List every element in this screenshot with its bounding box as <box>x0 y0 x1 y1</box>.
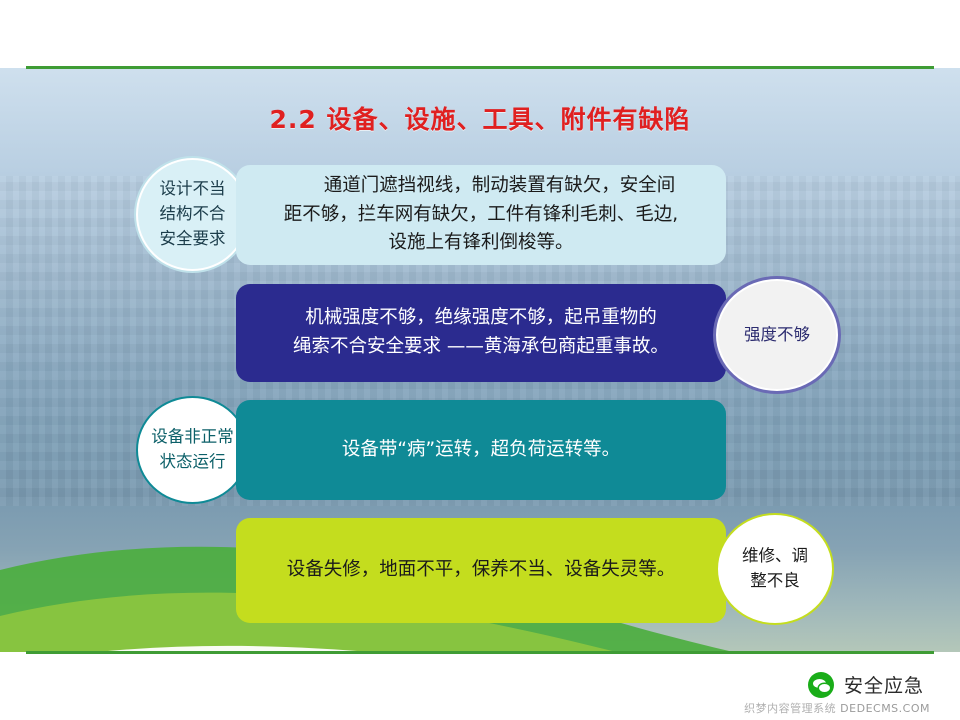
category-tag-insufficient-strength: 强度不够 <box>716 279 838 391</box>
content-text: 设备失修，地面不平，保养不当、设备失灵等。 <box>262 556 700 585</box>
top-green-rule <box>26 66 934 69</box>
content-text: 设备带“病”运转，超负荷运转等。 <box>262 436 700 465</box>
tag-text: 设备非正常 状态运行 <box>151 425 234 475</box>
content-box-abnormal-operation: 设备带“病”运转，超负荷运转等。 <box>236 400 726 500</box>
watermark: 织梦内容管理系统 DEDECMS.COM <box>744 700 930 716</box>
tag-text: 维修、调 整不良 <box>742 544 808 594</box>
watermark-en: DEDECMS.COM <box>840 702 930 715</box>
category-tag-poor-maintenance: 维修、调 整不良 <box>716 513 834 625</box>
tag-text: 设计不当 结构不合 安全要求 <box>160 177 226 251</box>
footer-brand: 安全应急 <box>808 671 924 698</box>
page-title: 2.2 设备、设施、工具、附件有缺陷 <box>0 100 960 136</box>
tag-text: 强度不够 <box>744 323 810 348</box>
content-box-design-defect: 通道门遮挡视线，制动装置有缺欠，安全间 距不够，拦车网有缺欠，工件有锋利毛刺、毛… <box>236 165 726 265</box>
content-text: 通道门遮挡视线，制动装置有缺欠，安全间 距不够，拦车网有缺欠，工件有锋利毛刺、毛… <box>262 172 700 258</box>
watermark-cn: 织梦内容管理系统 <box>744 702 836 715</box>
content-box-poor-maintenance: 设备失修，地面不平，保养不当、设备失灵等。 <box>236 518 726 623</box>
slide-canvas: 2.2 设备、设施、工具、附件有缺陷 设计不当 结构不合 安全要求 通道门遮挡视… <box>0 0 960 720</box>
category-tag-abnormal-operation: 设备非正常 状态运行 <box>136 396 249 504</box>
wechat-icon <box>808 672 834 698</box>
bottom-green-rule <box>26 651 934 654</box>
top-white-band <box>0 0 960 68</box>
category-tag-design-defect: 设计不当 结构不合 安全要求 <box>136 158 249 271</box>
brand-name: 安全应急 <box>844 671 924 698</box>
content-box-insufficient-strength: 机械强度不够，绝缘强度不够，起吊重物的 绳索不合安全要求 ——黄海承包商起重事故… <box>236 284 726 382</box>
content-text: 机械强度不够，绝缘强度不够，起吊重物的 绳索不合安全要求 ——黄海承包商起重事故… <box>262 304 700 361</box>
